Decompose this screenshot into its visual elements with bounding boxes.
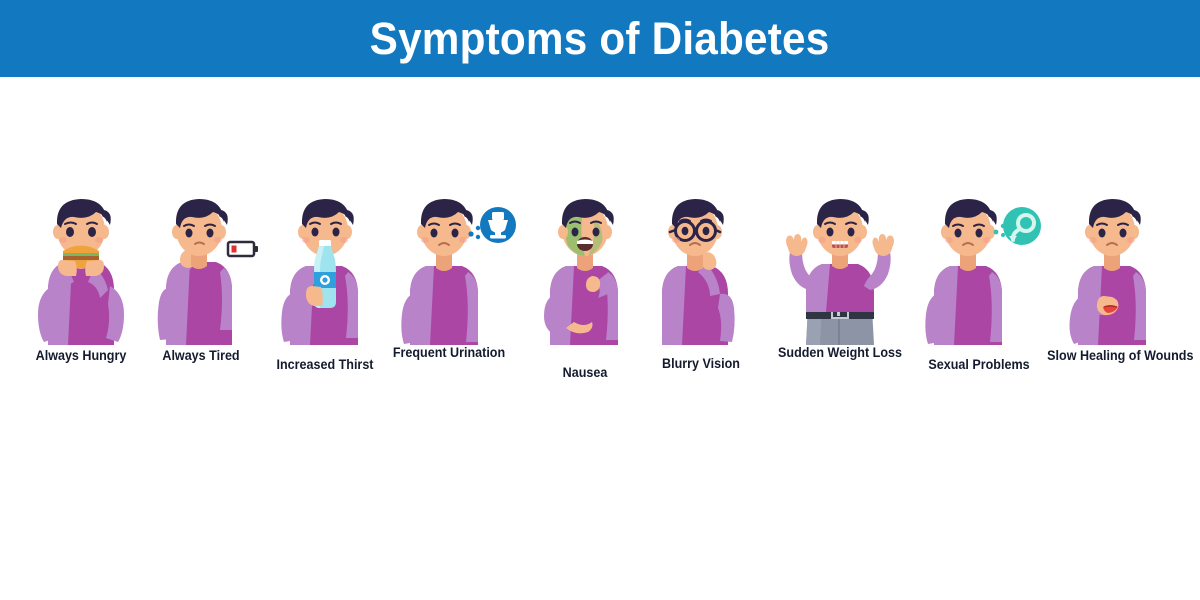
symptom-item-nausea[interactable]: Nausea xyxy=(522,190,648,380)
loose-pants-icon xyxy=(806,308,874,345)
infographic-canvas: Symptoms of Diabetes xyxy=(0,0,1200,600)
symptom-item-always-hungry[interactable]: Always Hungry xyxy=(18,190,144,380)
header-banner: Symptoms of Diabetes xyxy=(0,0,1200,77)
toilet-icon xyxy=(480,207,516,243)
symptom-label: Frequent Urination xyxy=(390,345,507,360)
symptom-item-frequent-urination[interactable]: Frequent Urination xyxy=(386,190,512,380)
figure-blurry-vision xyxy=(640,190,762,345)
symptom-label: Increased Thirst xyxy=(266,357,383,372)
figure-always-hungry xyxy=(18,190,144,345)
male-symbol-icon xyxy=(1003,207,1041,245)
symptom-item-slow-healing-of-wounds[interactable]: Slow Healing of Wounds xyxy=(1042,190,1190,380)
illustration-man-wound xyxy=(1042,190,1190,345)
illustration-man-sexual-problems xyxy=(912,190,1046,345)
figure-always-tired xyxy=(142,190,260,345)
symptom-item-always-tired[interactable]: Always Tired xyxy=(142,190,260,380)
symptom-label: Nausea xyxy=(526,365,643,380)
illustration-man-loose-pants xyxy=(766,190,914,345)
figure-nausea xyxy=(522,190,648,345)
illustration-man-nausea xyxy=(522,190,648,345)
symptom-list: Always Hungry xyxy=(0,190,1200,380)
symptom-label: Always Hungry xyxy=(22,348,139,363)
sick-face-icon xyxy=(577,237,593,251)
symptom-item-increased-thirst[interactable]: Increased Thirst xyxy=(262,190,388,380)
page-title: Symptoms of Diabetes xyxy=(370,16,830,61)
illustration-man-glasses xyxy=(640,190,762,345)
figure-sudden-weight-loss xyxy=(766,190,914,345)
illustration-man-eating-burger xyxy=(18,190,144,345)
figure-frequent-urination xyxy=(386,190,512,345)
low-battery-icon xyxy=(228,242,258,256)
figure-increased-thirst xyxy=(262,190,388,345)
symptom-item-sudden-weight-loss[interactable]: Sudden Weight Loss xyxy=(766,190,914,380)
symptom-label: Slow Healing of Wounds xyxy=(1047,348,1185,363)
symptom-label: Sudden Weight Loss xyxy=(771,345,909,360)
symptom-label: Sexual Problems xyxy=(917,357,1042,372)
illustration-man-thinking-toilet xyxy=(386,190,512,345)
symptom-label: Blurry Vision xyxy=(644,356,757,371)
symptom-item-sexual-problems[interactable]: Sexual Problems xyxy=(912,190,1046,380)
illustration-man-drinking xyxy=(262,190,388,345)
illustration-man-tired xyxy=(142,190,260,345)
figure-sexual-problems xyxy=(912,190,1046,345)
symptom-label: Always Tired xyxy=(146,348,256,363)
grimace-mouth xyxy=(832,241,848,248)
figure-slow-healing-of-wounds xyxy=(1042,190,1190,345)
symptom-item-blurry-vision[interactable]: Blurry Vision xyxy=(640,190,762,380)
